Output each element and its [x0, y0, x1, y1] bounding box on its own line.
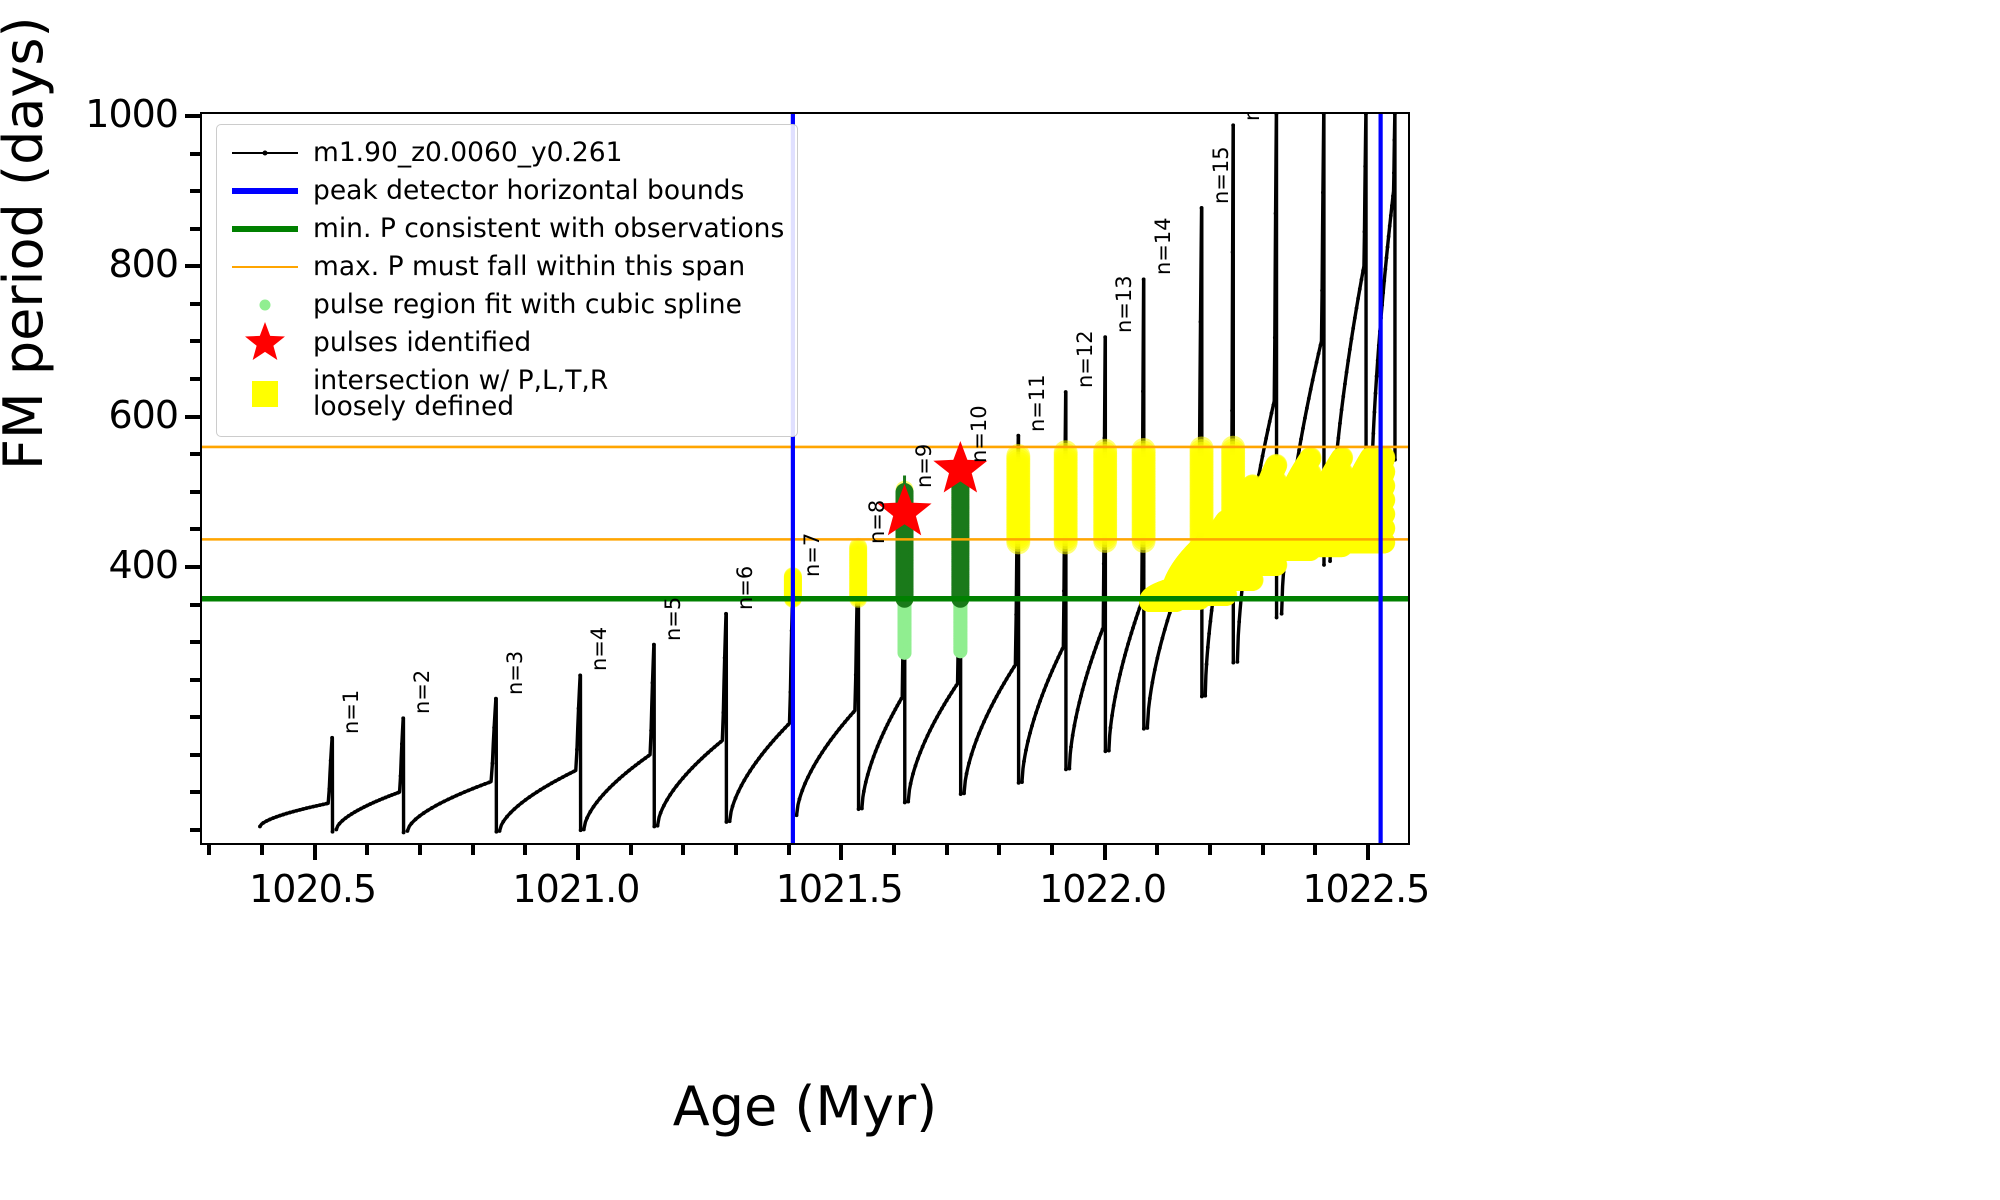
pulse-label: n=7: [800, 533, 824, 577]
pulse-label: n=8: [865, 500, 889, 544]
x-tick-label: 1020.5: [249, 867, 376, 911]
pulse-label: n=4: [587, 627, 611, 671]
x-tick-minor: [787, 844, 791, 855]
x-tick-minor: [681, 844, 685, 855]
x-tick-minor: [260, 844, 264, 855]
y-tick-label: 600: [108, 393, 178, 437]
plot-area: m1.90_z0.0060_y0.261peak detector horizo…: [200, 112, 1410, 845]
x-tick-major: [1103, 844, 1107, 860]
x-tick-minor: [1313, 844, 1317, 855]
y-tick-major: [185, 264, 201, 268]
x-tick-label: 1021.0: [512, 867, 639, 911]
x-tick-minor: [734, 844, 738, 855]
x-tick-label: 1022.5: [1302, 867, 1429, 911]
legend-key-blue-line-icon: [228, 172, 302, 210]
y-tick-major: [185, 114, 201, 118]
x-tick-major: [839, 844, 843, 860]
x-tick-minor: [418, 844, 422, 855]
intersection-marker-group: [1093, 439, 1117, 553]
pulse-label: n=5: [661, 596, 685, 640]
legend-entry-label: pulse region fit with cubic spline: [313, 292, 742, 319]
x-tick-minor: [892, 844, 896, 855]
y-tick-label: 400: [108, 543, 178, 587]
pulse-label: n=13: [1112, 276, 1136, 334]
legend-key-star-icon: [228, 324, 302, 362]
legend-key-yellow-square-icon: [228, 375, 302, 413]
x-tick-minor: [945, 844, 949, 855]
legend-entry: peak detector horizontal bounds: [228, 172, 784, 210]
y-axis-title: FM period (days): [0, 16, 55, 470]
pulse-label: n=3: [503, 650, 527, 694]
x-tick-minor: [365, 844, 369, 855]
x-tick-minor: [471, 844, 475, 855]
legend-entry-label: intersection w/ P,L,T,R loosely defined: [313, 368, 608, 421]
legend-entry: min. P consistent with observations: [228, 210, 784, 248]
pulse-label: n=16: [1240, 112, 1264, 121]
legend-box: m1.90_z0.0060_y0.261peak detector horizo…: [216, 124, 798, 437]
intersection-marker-group: [1054, 440, 1078, 554]
legend-entry-label: peak detector horizontal bounds: [313, 178, 744, 205]
legend-entry: pulses identified: [228, 324, 784, 362]
x-tick-major: [1366, 844, 1370, 860]
x-tick-minor: [1155, 844, 1159, 855]
x-tick-major: [313, 844, 317, 860]
legend-entry-label: max. P must fall within this span: [313, 254, 745, 281]
y-tick-major: [185, 565, 201, 569]
legend-entry-label: m1.90_z0.0060_y0.261: [313, 140, 623, 167]
pulse-label: n=2: [410, 670, 434, 714]
pulse-label: n=10: [967, 406, 991, 464]
pulse-label: n=15: [1209, 146, 1233, 204]
pulse-label: n=11: [1025, 374, 1049, 432]
y-tick-label: 1000: [85, 92, 178, 136]
x-tick-minor: [1208, 844, 1212, 855]
pulse-label: n=14: [1151, 218, 1175, 276]
x-tick-label: 1021.5: [776, 867, 903, 911]
x-tick-label: 1022.0: [1039, 867, 1166, 911]
pulse-label: n=12: [1073, 330, 1097, 388]
pulse-label: n=1: [339, 690, 363, 734]
legend-key-marker-icon: [263, 151, 268, 156]
y-tick-label: 800: [108, 242, 178, 286]
pulse-label: n=9: [912, 444, 936, 488]
legend-entry-label: pulses identified: [313, 330, 531, 357]
intersection-field-right: [1139, 446, 1395, 612]
pulse-label: n=6: [733, 565, 757, 609]
legend-entry-label: min. P consistent with observations: [313, 216, 784, 243]
legend-entry: m1.90_z0.0060_y0.261: [228, 134, 784, 172]
legend-entry: max. P must fall within this span: [228, 248, 784, 286]
y-tick-major: [185, 415, 201, 419]
legend-key-green-line-icon: [228, 210, 302, 248]
x-tick-minor: [207, 844, 211, 855]
intersection-marker-group: [1006, 444, 1030, 554]
legend-key-line-icon: [228, 134, 302, 172]
x-tick-major: [576, 844, 580, 860]
legend-key-green-dot-icon: [228, 286, 302, 324]
x-tick-minor: [997, 844, 1001, 855]
x-tick-minor: [1261, 844, 1265, 855]
x-tick-minor: [629, 844, 633, 855]
x-axis-title: Age (Myr): [673, 1075, 938, 1138]
legend-entry: pulse region fit with cubic spline: [228, 286, 784, 324]
x-tick-minor: [523, 844, 527, 855]
legend-key-orange-line-icon: [228, 248, 302, 286]
intersection-marker-group: [1132, 438, 1156, 553]
figure-canvas: FM period (days) Age (Myr) 4006008001000…: [0, 0, 2000, 1200]
legend-entry: intersection w/ P,L,T,R loosely defined: [228, 362, 784, 426]
x-tick-minor: [1050, 844, 1054, 855]
